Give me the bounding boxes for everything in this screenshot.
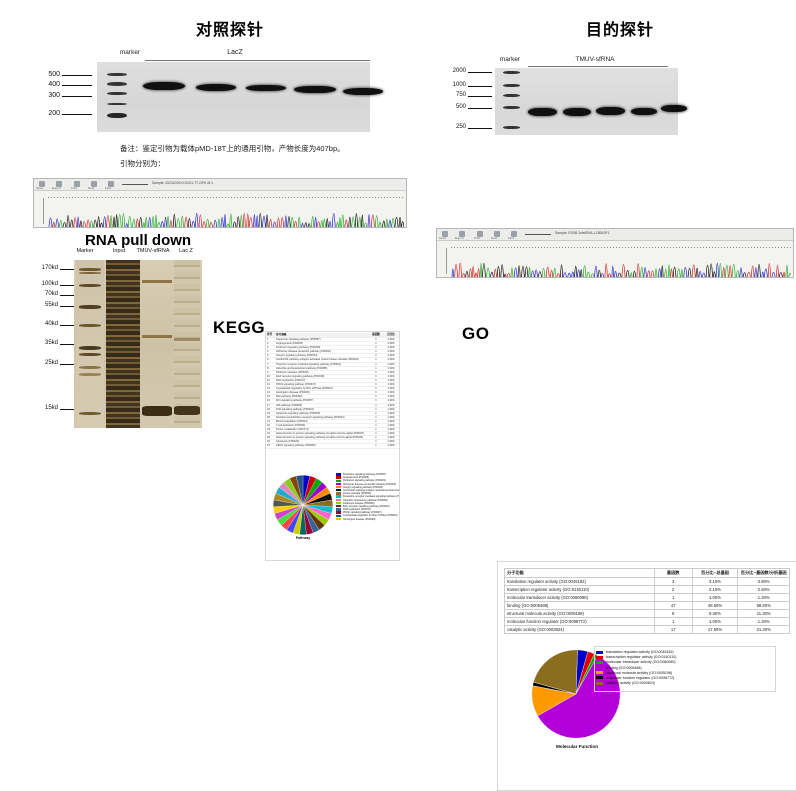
trace-peak <box>371 215 374 227</box>
trace-peak <box>294 221 297 227</box>
trace-peak <box>622 264 625 277</box>
pd-ladder-label: 55kd <box>32 302 58 308</box>
trace-peak <box>514 268 517 277</box>
trace-peak <box>326 219 328 227</box>
trace-peak <box>342 215 344 227</box>
trace-peak <box>386 219 388 227</box>
kegg-legend-swatch <box>336 480 341 482</box>
trace-peak <box>630 273 632 277</box>
kegg-slide-panel: 序号 信号通路 基因数 百分比 1Dopamine signaling path… <box>265 331 400 561</box>
trace-peak <box>710 264 713 277</box>
trace-peak <box>308 224 310 227</box>
chromatogram-viewer-right[interactable]: Open Export Print Next Find Sample: RG98… <box>436 228 794 278</box>
trace-peak <box>266 215 268 227</box>
kegg-legend-label: Huntington disease (P00029) <box>343 518 375 521</box>
pd-ladder-tick <box>60 344 74 345</box>
trace-peak <box>332 214 335 227</box>
trace-peak <box>126 223 128 227</box>
pd-ladder-label: 40kd <box>32 321 58 327</box>
marker-band <box>107 82 127 86</box>
trace-peak <box>557 274 560 277</box>
trace-peak <box>311 216 313 227</box>
trace-peak <box>614 271 616 277</box>
ladder-label: 500 <box>438 104 466 110</box>
kegg-pie-chart <box>272 474 334 536</box>
kegg-row-pct: 1.30% <box>384 444 398 448</box>
go-table-cell: 3.80% <box>738 578 790 586</box>
pd-ladder-label: 70kd <box>32 291 58 297</box>
kegg-legend-swatch <box>336 518 341 520</box>
trace-peak <box>644 267 647 277</box>
pulldown-lane-label: Lac Z <box>174 248 198 254</box>
trace-peak <box>227 224 230 227</box>
kegg-table: 序号 信号通路 基因数 百分比 1Dopamine signaling path… <box>266 333 399 449</box>
trace-peak <box>152 216 154 227</box>
chromatogram-trace-right <box>451 247 791 277</box>
trace-peak <box>277 218 280 227</box>
go-table-cell: transcription regulator activity (GO:014… <box>505 586 655 594</box>
trace-peak <box>494 269 496 277</box>
sample-band <box>343 88 383 95</box>
go-table-cell: 2 <box>654 586 692 594</box>
kegg-pie-label: Pathway <box>272 536 334 540</box>
trace-peak <box>511 268 513 277</box>
sample-band <box>143 82 185 90</box>
trace-peak <box>349 217 351 227</box>
kegg-legend-swatch <box>336 502 341 504</box>
go-col-function: 分子功能 <box>505 569 655 578</box>
trace-peak <box>281 217 284 227</box>
trace-peak <box>256 216 258 227</box>
chromatogram-sample-title: Sample: RG98-1sfsfRNA-L18B10F1 <box>555 231 609 235</box>
trace-peak <box>218 219 220 227</box>
trace-peak <box>702 273 705 277</box>
toolbar-label: Find <box>105 186 111 190</box>
go-table-row: transcription regulator activity (GO:014… <box>505 586 790 594</box>
trace-peak <box>118 214 121 227</box>
trace-peak <box>747 272 750 277</box>
trace-peak <box>490 272 493 277</box>
kegg-row-genes: 1 <box>369 444 383 448</box>
trace-peak <box>699 271 702 277</box>
go-table-cell: 11.30% <box>738 610 790 618</box>
trace-peak <box>368 214 370 227</box>
agarose-gel-image <box>495 68 678 135</box>
kegg-label: KEGG <box>213 318 265 338</box>
trace-peak <box>192 221 195 227</box>
go-table-cell: 1.00% <box>692 618 738 626</box>
trace-peak <box>591 274 594 277</box>
trace-peak <box>575 266 577 277</box>
trace-peak <box>612 266 614 277</box>
trace-peak <box>362 215 364 227</box>
trace-peak <box>203 221 206 227</box>
go-table-cell: 2.10% <box>692 586 738 594</box>
trace-peak <box>110 215 112 227</box>
chromatogram-viewer-left[interactable]: Open Export Print Next Find Sample: 2021… <box>33 178 407 228</box>
trace-peak <box>143 222 145 227</box>
trace-peak <box>145 217 147 227</box>
go-table-cell: translation regulator activity (GO:00451… <box>505 578 655 586</box>
go-table: 分子功能 基因数 百分比--总基因 百分比--基因数/分析基因 translat… <box>504 568 790 634</box>
trace-peak <box>550 270 552 277</box>
marker-band <box>503 94 520 97</box>
go-table-cell: molecular transducer activity (GO:006008… <box>505 594 655 602</box>
trace-peak <box>641 267 644 277</box>
trace-peak <box>67 215 69 227</box>
trace-peak <box>542 269 545 277</box>
go-table-row: molecular transducer activity (GO:006008… <box>505 594 790 602</box>
kegg-legend-swatch <box>336 473 341 475</box>
trace-peak <box>736 270 739 277</box>
marker-band <box>503 84 520 87</box>
trace-peak <box>598 270 601 277</box>
pd-ladder-label: 25kd <box>32 360 58 366</box>
ladder-label: 250 <box>438 124 466 130</box>
trace-peak <box>487 268 490 277</box>
marker-band <box>107 103 127 105</box>
go-table-cell: 17 <box>654 626 692 634</box>
sample-band <box>596 107 625 115</box>
trace-peak <box>161 221 164 227</box>
trace-peak <box>452 269 454 277</box>
kegg-legend-swatch <box>336 499 341 501</box>
go-table-body: translation regulator activity (GO:00451… <box>505 578 790 634</box>
trace-peak <box>518 266 520 277</box>
ladder-tick <box>62 75 92 76</box>
go-table-cell: catalytic activity (GO:0003824) <box>505 626 655 634</box>
go-label: GO <box>462 324 489 344</box>
trace-peak <box>472 266 474 277</box>
go-col-pct-total: 百分比--总基因 <box>692 569 738 578</box>
trace-peak <box>90 221 92 227</box>
kegg-legend: Dopamine signaling pathway (P06587)Angio… <box>336 473 398 521</box>
trace-peak <box>63 223 66 227</box>
trace-peak <box>762 272 764 277</box>
ladder-label: 400 <box>20 81 60 88</box>
trace-peak <box>475 273 477 277</box>
sample-band <box>294 86 336 93</box>
pulldown-lane-label: Marker <box>72 248 98 254</box>
trace-peak <box>285 216 287 227</box>
trace-peak <box>743 273 746 277</box>
trace-peak <box>56 219 59 227</box>
kegg-row-name: VEGF signaling pathway (P00056) <box>276 444 369 448</box>
go-table-cell: 1 <box>654 618 692 626</box>
go-slide-panel: 分子功能 基因数 百分比--总基因 百分比--基因数/分析基因 translat… <box>497 561 796 791</box>
kegg-legend-swatch <box>336 489 341 491</box>
trace-peak <box>713 272 715 277</box>
trace-peak <box>789 273 791 277</box>
trace-peak <box>501 265 504 277</box>
trace-peak <box>83 222 86 227</box>
trace-peak <box>359 217 361 227</box>
trace-peak <box>128 216 131 227</box>
kegg-legend-swatch <box>336 495 341 497</box>
trace-peak <box>716 263 718 277</box>
trace-peak <box>677 269 680 277</box>
trace-peak <box>546 267 549 277</box>
trace-peak <box>608 274 611 277</box>
trace-peak <box>210 223 213 227</box>
control-lane-group-label: LacZ <box>190 49 280 56</box>
ladder-tick <box>468 72 492 73</box>
rna-pulldown-panel: Marker Input TMUV-sfRNA Lac Z 170kd 100k… <box>52 248 212 448</box>
trace-peak <box>315 217 317 227</box>
trace-peak <box>740 268 742 277</box>
trace-peak <box>199 215 202 227</box>
trace-peak <box>681 269 683 277</box>
trace-peak <box>364 223 366 227</box>
trace-peak <box>462 273 464 277</box>
go-table-cell: 47 <box>654 602 692 610</box>
kegg-legend-item: Huntington disease (P00029) <box>336 518 398 521</box>
trace-peak <box>165 217 167 227</box>
kegg-legend-swatch <box>336 483 341 485</box>
trace-peak <box>725 265 728 277</box>
trace-peak <box>214 220 217 227</box>
trace-peak <box>647 271 649 277</box>
trace-peak <box>723 267 725 277</box>
go-table-row: translation regulator activity (GO:00451… <box>505 578 790 586</box>
trace-peak <box>751 266 754 277</box>
ladder-tick <box>468 108 492 109</box>
trace-peak <box>661 266 663 277</box>
trace-peak <box>233 222 236 227</box>
toolbar-label: Export <box>52 186 61 190</box>
ladder-label: 750 <box>438 92 466 98</box>
trace-peak <box>59 220 62 227</box>
go-pie-label: Molecular Function <box>522 744 632 749</box>
trace-peak <box>87 220 90 227</box>
trace-peak <box>352 217 355 227</box>
trace-peak <box>497 266 499 277</box>
trace-peak <box>668 265 670 277</box>
ladder-label: 2000 <box>438 68 466 74</box>
kegg-legend-swatch <box>336 492 341 494</box>
target-probe-gel-panel: marker TMUV-sfRNA 2000 1000 750 500 250 <box>450 50 750 140</box>
ladder-label: 500 <box>20 71 60 78</box>
go-table-row: structural molecule activity (GO:0005198… <box>505 610 790 618</box>
trace-peak <box>392 218 395 227</box>
go-table-cell: 9.30% <box>692 610 738 618</box>
trace-peak <box>254 214 256 227</box>
target-lane-group-label: TMUV-sfRNA <box>550 56 640 63</box>
trace-peak <box>587 272 590 277</box>
go-col-genes: 基因数 <box>654 569 692 578</box>
toolbar-label: Next <box>88 186 94 190</box>
marker-band <box>503 126 520 129</box>
trace-peak <box>538 272 541 277</box>
trace-peak <box>535 270 538 277</box>
kegg-row-no: 27 <box>267 444 275 448</box>
gel-lane-tmuv-sfrna <box>142 260 172 428</box>
trace-peak <box>132 219 135 227</box>
trace-peak <box>149 217 151 227</box>
ladder-tick <box>468 128 492 129</box>
trace-peak <box>249 218 252 227</box>
go-table-row: molecular function regulator (GO:0098772… <box>505 618 790 626</box>
trace-peak <box>195 213 198 227</box>
trace-peak <box>651 271 654 277</box>
trace-peak <box>237 217 240 227</box>
toolbar-label: Find <box>508 236 514 240</box>
kegg-col-pct: 百分比 <box>384 333 398 337</box>
trace-peak <box>389 220 391 227</box>
trace-peak <box>531 271 534 277</box>
go-table-cell: 3 <box>654 578 692 586</box>
trace-peak <box>321 220 323 227</box>
trace-peak <box>402 221 404 227</box>
sample-band <box>246 85 286 91</box>
go-table-cell: structural molecule activity (GO:0005198… <box>505 610 655 618</box>
trace-peak <box>221 217 223 227</box>
trace-peak <box>455 264 458 277</box>
trace-peak <box>323 219 325 227</box>
trace-peak <box>139 217 142 227</box>
gel-lane-lacz <box>174 260 200 428</box>
trace-peak <box>729 265 731 277</box>
toolbar-label: Open <box>439 236 446 240</box>
trace-peak <box>122 214 125 227</box>
trace-peak <box>317 222 320 227</box>
trace-peak <box>399 217 401 227</box>
pd-ladder-tick <box>60 306 74 307</box>
trace-peak <box>779 273 782 277</box>
ladder-tick <box>62 114 92 115</box>
pd-ladder-tick <box>60 409 74 410</box>
trace-peak <box>230 214 232 227</box>
chromatogram-toolbar-left[interactable]: Open Export Print Next Find Sample: 2021… <box>34 179 406 191</box>
rna-pulldown-title: RNA pull down <box>85 232 191 249</box>
kegg-col-no: 序号 <box>267 333 275 337</box>
go-legend-box <box>594 646 776 692</box>
pd-ladder-label: 170kd <box>32 265 58 271</box>
trace-peak <box>345 220 348 227</box>
caption-line-2: 引物分别为： <box>120 158 165 169</box>
trace-peak <box>673 267 676 277</box>
ladder-label: 200 <box>20 110 60 117</box>
go-table-cell: 48.50% <box>692 602 738 610</box>
toolbar-label: Open <box>36 186 43 190</box>
sample-band <box>661 105 687 112</box>
ladder-tick <box>468 86 492 87</box>
trace-peak <box>507 273 510 277</box>
trace-peak <box>375 216 378 227</box>
trace-peak <box>170 221 172 227</box>
trace-peak <box>655 269 657 277</box>
gel-lane-marker <box>76 260 104 428</box>
sample-band <box>563 108 591 116</box>
kegg-table-row: 27VEGF signaling pathway (P00056)11.30% <box>266 444 399 448</box>
sample-band <box>631 108 657 115</box>
trace-peak <box>719 263 721 277</box>
trace-peak <box>563 273 566 277</box>
trace-peak <box>469 269 471 277</box>
caption-line-1: 备注：鉴定引物为载体pMD-18T上的通用引物，产物长度为407bp。 <box>120 143 345 154</box>
go-table-cell: molecular function regulator (GO:0098772… <box>505 618 655 626</box>
control-lane-rule <box>145 60 370 61</box>
kegg-legend-swatch <box>336 486 341 488</box>
agarose-gel-image <box>97 62 370 132</box>
go-table-cell: 1.30% <box>738 594 790 602</box>
go-table-row: catalytic activity (GO:0003824)1717.50%2… <box>505 626 790 634</box>
trace-peak <box>98 217 100 227</box>
trace-peak <box>158 222 161 227</box>
trace-peak <box>692 265 695 277</box>
kegg-table-body: 1Dopamine signaling pathway (P06587)11.3… <box>266 338 399 449</box>
trace-peak <box>665 269 667 277</box>
trace-peak <box>49 218 52 227</box>
chromatogram-trace-left <box>48 197 404 227</box>
pd-ladder-label: 100kd <box>32 281 58 287</box>
trace-peak <box>181 216 183 227</box>
trace-peak <box>339 217 341 227</box>
trace-peak <box>776 265 778 277</box>
trace-peak <box>53 222 55 227</box>
trace-peak <box>288 217 291 227</box>
trace-peak <box>786 265 788 277</box>
go-table-cell: 9 <box>654 610 692 618</box>
trace-peak <box>595 266 598 277</box>
kegg-legend-swatch <box>336 508 341 510</box>
trace-peak <box>100 223 102 227</box>
go-table-row: binding (GO:0005488)4748.50%58.80% <box>505 602 790 610</box>
go-table-cell: 1.00% <box>692 594 738 602</box>
target-probe-title: 目的探针 <box>540 16 700 40</box>
trace-peak <box>337 222 339 227</box>
trace-peak <box>764 269 767 277</box>
trace-peak <box>240 215 242 227</box>
trace-peak <box>77 217 79 227</box>
trace-peak <box>688 268 691 277</box>
control-probe-title: 对照探针 <box>150 16 310 40</box>
go-table-cell: 58.80% <box>738 602 790 610</box>
kegg-legend-swatch <box>336 505 341 507</box>
trace-peak <box>167 216 169 227</box>
title-rule <box>122 184 148 185</box>
trace-peak <box>522 266 525 277</box>
kegg-col-genes: 基因数 <box>369 333 383 337</box>
trace-peak <box>247 214 249 227</box>
go-col-pct-analyzed: 百分比--基因数/分析基因 <box>738 569 790 578</box>
go-table-cell: 2.50% <box>738 586 790 594</box>
trace-peak <box>732 264 735 277</box>
marker-band <box>107 92 127 95</box>
chromatogram-toolbar-right[interactable]: Open Export Print Next Find Sample: RG98… <box>437 229 793 241</box>
trace-peak <box>273 222 276 227</box>
trace-peak <box>305 223 307 227</box>
trace-peak <box>755 268 757 277</box>
ladder-label: 300 <box>20 92 60 99</box>
marker-band <box>107 73 127 76</box>
trace-peak <box>583 265 586 277</box>
pd-ladder-tick <box>60 269 74 270</box>
trace-peak <box>329 221 331 227</box>
trace-peak <box>696 268 698 277</box>
trace-peak <box>224 214 226 227</box>
trace-peak <box>618 273 621 277</box>
trace-peak <box>188 218 190 227</box>
trace-peak <box>80 221 82 227</box>
toolbar-label: Next <box>491 236 497 240</box>
title-rule <box>525 234 551 235</box>
go-table-cell: 3.10% <box>692 578 738 586</box>
trace-peak <box>626 270 629 277</box>
kegg-legend-swatch <box>336 515 341 517</box>
trace-peak <box>107 215 110 227</box>
go-table-cell: 1.30% <box>738 618 790 626</box>
